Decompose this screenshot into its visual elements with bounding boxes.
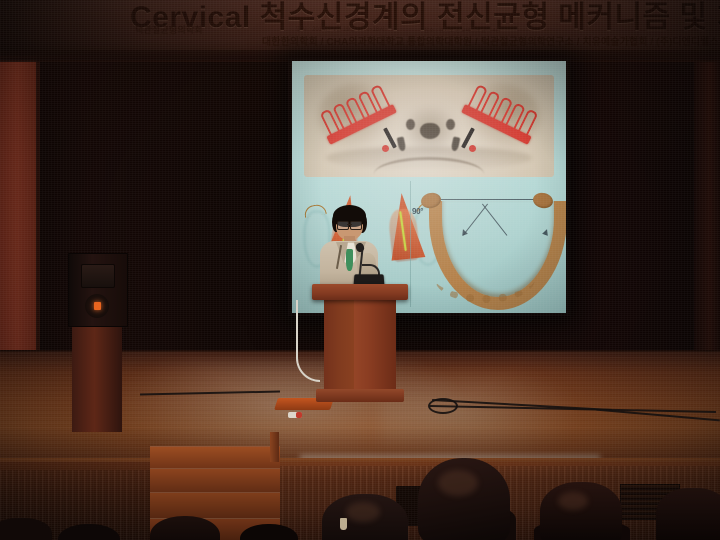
speaker-stand — [72, 324, 122, 432]
audience-head — [540, 482, 622, 540]
podium-front-face — [324, 299, 354, 391]
podium-base — [316, 389, 404, 402]
radiograph-sinus-left — [406, 119, 415, 130]
projector-light-spill-right — [380, 372, 580, 468]
mandible-diagram: 90° — [410, 181, 561, 307]
drink-cup — [340, 518, 347, 530]
cranial-base-radiograph — [304, 75, 554, 177]
annotation-marker-right — [469, 145, 476, 152]
radiograph-nasal-cavity — [420, 123, 440, 139]
angle-label: 90° — [412, 207, 423, 216]
glasses-bridge — [347, 224, 352, 225]
audience-head — [656, 488, 720, 540]
step-rail — [270, 432, 279, 462]
floor-object-red — [296, 412, 302, 418]
power-indicator-icon — [94, 302, 101, 310]
audience-hair-highlight — [346, 502, 380, 522]
podium — [312, 284, 408, 404]
audience-hair-highlight — [558, 492, 588, 510]
glasses-lens-left — [337, 221, 349, 230]
mandible-teeth-row — [435, 255, 535, 303]
speaker-cabinet — [68, 253, 128, 327]
conference-banner: Cervical 척수신경계의 전신균형 메커니즘 및 치료법 턱관절균형의학회… — [0, 0, 720, 56]
glasses-icon — [337, 221, 362, 228]
annotation-marker-left — [382, 145, 389, 152]
podium-desktop — [312, 284, 408, 300]
radiograph-sinus-right — [446, 119, 455, 130]
stage-loudspeaker — [68, 253, 126, 433]
lecture-hall-photo: Cervical 척수신경계의 전신균형 메커니즘 및 치료법 턱관절균형의학회… — [0, 0, 720, 540]
condylar-axis-line — [429, 199, 547, 200]
speaker-horn-driver — [81, 264, 115, 288]
step — [150, 446, 280, 469]
left-wall-panel — [0, 52, 38, 352]
glasses-lens-right — [350, 221, 362, 230]
audience-hair-highlight — [438, 470, 478, 496]
banner-shadow-overlay — [0, 0, 720, 56]
step — [150, 492, 280, 519]
right-wall-panel — [694, 55, 720, 355]
step — [150, 468, 280, 493]
left-wall-edge — [36, 52, 40, 352]
